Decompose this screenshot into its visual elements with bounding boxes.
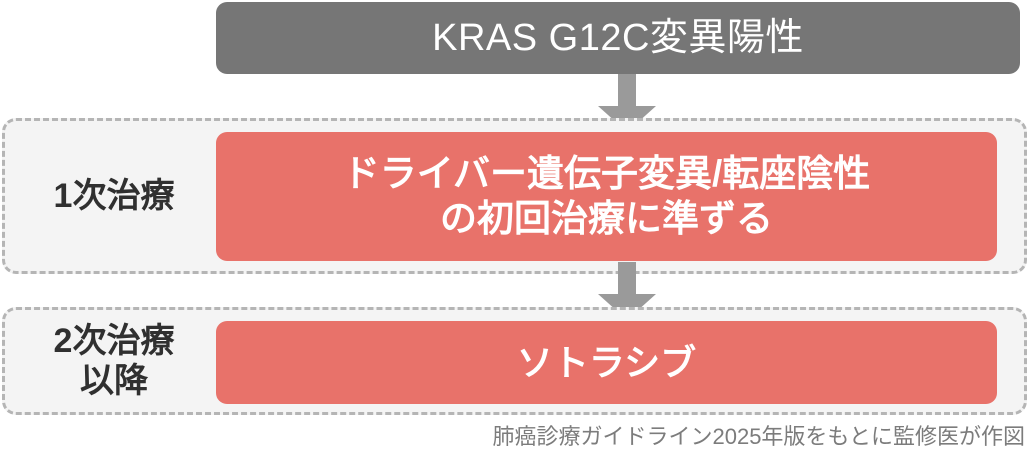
treatment-text-line-1: ドライバー遺伝子変異/転座陰性: [343, 152, 871, 196]
treatment-row-label-line: 2次治療: [54, 321, 175, 361]
treatment-row-label-first-line: 1次治療: [19, 121, 209, 271]
treatment-flowchart: KRAS G12C変異陽性 1次治療 ドライバー遺伝子変異/転座陰性 の初回治療…: [0, 0, 1029, 456]
diagnosis-header-title: KRAS G12C変異陽性: [432, 19, 804, 57]
treatment-box-first-line: ドライバー遺伝子変異/転座陰性 の初回治療に準ずる: [216, 132, 997, 261]
arrow-shaft: [618, 262, 636, 296]
treatment-row-second-line: 2次治療 以降 ソトラシブ: [2, 307, 1027, 415]
arrow-shaft: [618, 74, 636, 108]
treatment-row-label-line: 1次治療: [54, 176, 175, 216]
source-caption: 肺癌診療ガイドライン2025年版をもとに監修医が作図: [492, 424, 1025, 450]
treatment-box-second-line: ソトラシブ: [216, 321, 997, 404]
treatment-row-label-line: 以降: [80, 361, 148, 401]
treatment-row-first-line: 1次治療 ドライバー遺伝子変異/転座陰性 の初回治療に準ずる: [2, 118, 1027, 274]
diagnosis-header-bar: KRAS G12C変異陽性: [216, 2, 1020, 74]
treatment-row-label-second-line: 2次治療 以降: [19, 310, 209, 412]
treatment-text-line-2: の初回治療に準ずる: [440, 197, 773, 241]
treatment-text-line-1: ソトラシブ: [517, 341, 696, 384]
